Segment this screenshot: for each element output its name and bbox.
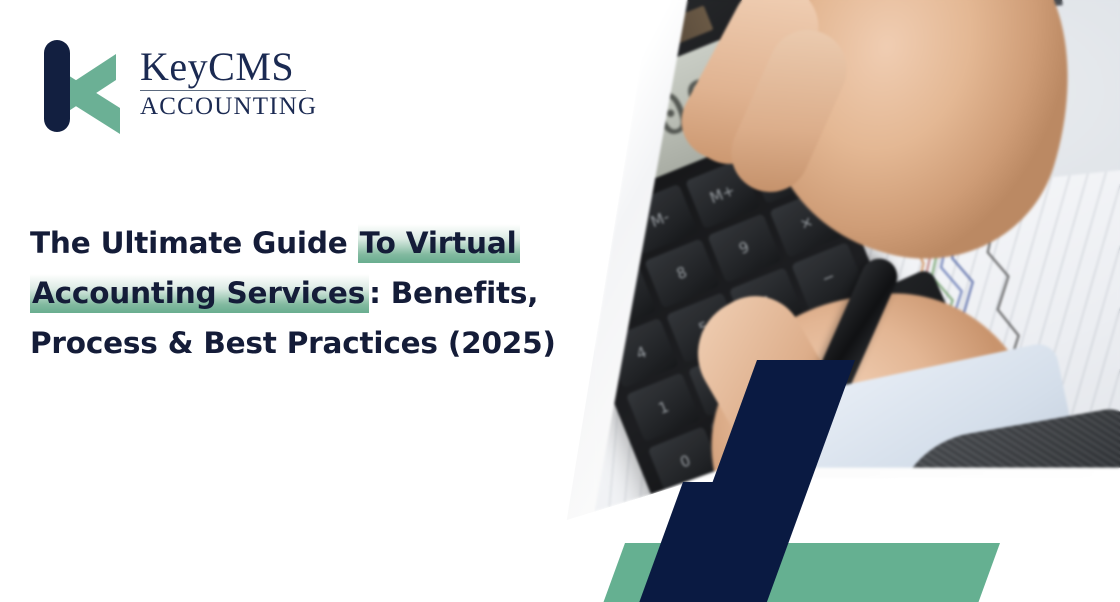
- headline-segment-plain-2: : Benefits,: [369, 276, 538, 310]
- headline-segment-highlight-2: Accounting Services: [30, 274, 369, 313]
- brand-divider: [140, 90, 306, 92]
- brand-name: KeyCMS: [140, 47, 317, 86]
- headline-segment-plain-1: The Ultimate Guide: [30, 226, 358, 260]
- page-title: The Ultimate Guide To Virtual Accounting…: [30, 218, 590, 368]
- headline-segment-highlight-1: To Virtual: [358, 224, 521, 263]
- brand-subtitle: ACCOUNTING: [140, 94, 317, 119]
- blog-hero-banner: Sep Oct Nov 5200944 MRC M- M+ ÷: [0, 0, 1120, 602]
- brand-logo[interactable]: KeyCMS ACCOUNTING: [28, 28, 328, 138]
- headline-segment-plain-3: Process & Best Practices (2025): [30, 326, 556, 360]
- keycms-k-monogram-icon: [28, 28, 128, 138]
- brand-wordmark: KeyCMS ACCOUNTING: [140, 47, 317, 120]
